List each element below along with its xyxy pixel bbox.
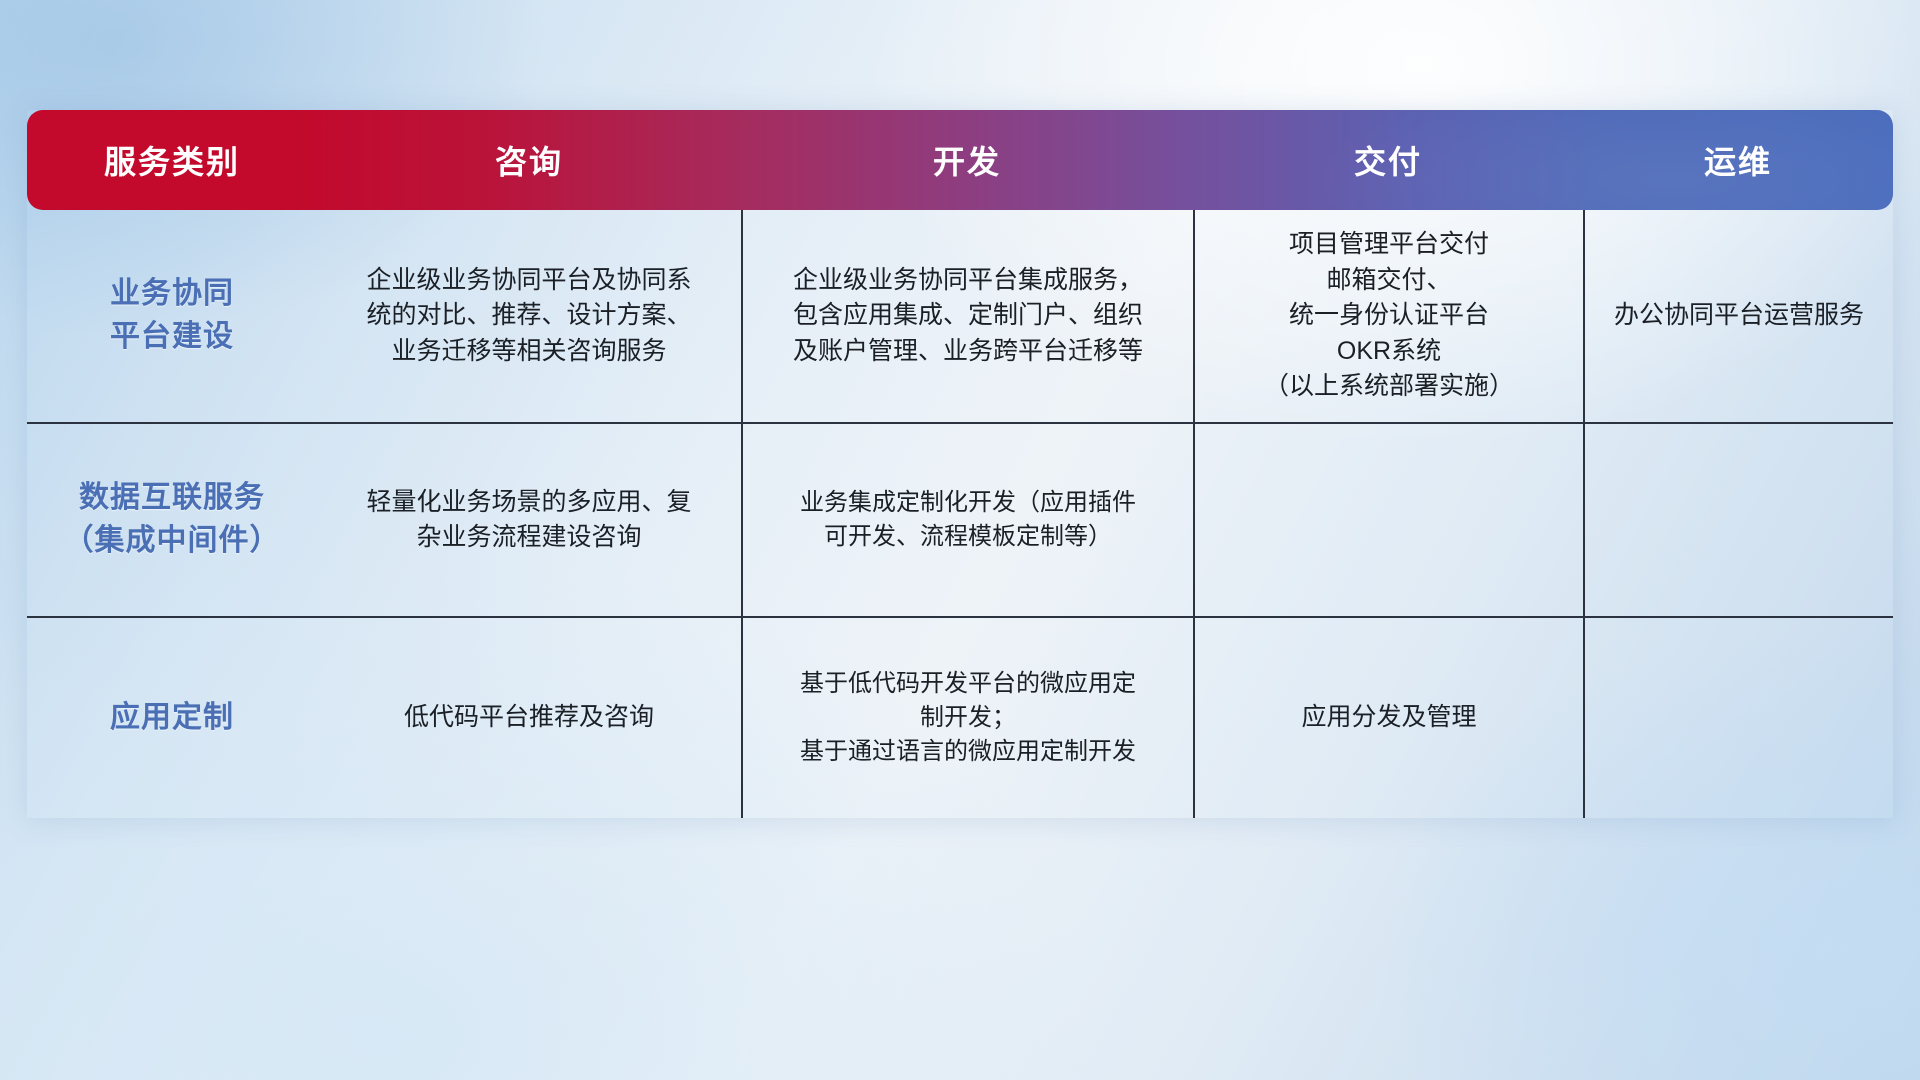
cell-consulting: 低代码平台推荐及咨询 (317, 618, 741, 818)
cell-delivery (1193, 424, 1583, 616)
column-header-delivery: 交付 (1193, 110, 1583, 210)
cell-operations: 办公协同平台运营服务 (1583, 210, 1893, 422)
cell-development: 业务集成定制化开发（应用插件可开发、流程模板定制等） (741, 424, 1193, 616)
row-label-cell: 应用定制 (27, 618, 317, 818)
row-label-cell: 数据互联服务（集成中间件） (27, 424, 317, 616)
cell-consulting: 轻量化业务场景的多应用、复杂业务流程建设咨询 (317, 424, 741, 616)
cell-text: 轻量化业务场景的多应用、复杂业务流程建设咨询 (366, 485, 691, 556)
column-header-consulting: 咨询 (317, 110, 741, 210)
cell-text: 应用分发及管理 (1301, 700, 1476, 736)
cell-text: 办公协同平台运营服务 (1614, 298, 1864, 334)
table-body: 业务协同平台建设 企业级业务协同平台及协同系统的对比、推荐、设计方案、业务迁移等… (27, 210, 1893, 818)
row-label-text: 应用定制 (110, 697, 234, 740)
cell-text: 基于低代码开发平台的微应用定制开发；基于通过语言的微应用定制开发 (800, 667, 1136, 769)
cell-text: 企业级业务协同平台集成服务，包含应用集成、定制门户、组织及账户管理、业务跨平台迁… (793, 263, 1143, 370)
cell-text: 企业级业务协同平台及协同系统的对比、推荐、设计方案、业务迁移等相关咨询服务 (366, 263, 691, 370)
table-row: 应用定制 低代码平台推荐及咨询 基于低代码开发平台的微应用定制开发；基于通过语言… (27, 616, 1893, 818)
table-row: 业务协同平台建设 企业级业务协同平台及协同系统的对比、推荐、设计方案、业务迁移等… (27, 210, 1893, 422)
column-header-category: 服务类别 (27, 110, 317, 210)
row-label-text: 数据互联服务（集成中间件） (64, 477, 281, 562)
cell-development: 基于低代码开发平台的微应用定制开发；基于通过语言的微应用定制开发 (741, 618, 1193, 818)
column-header-development: 开发 (741, 110, 1193, 210)
column-header-operations: 运维 (1583, 110, 1893, 210)
cell-development: 企业级业务协同平台集成服务，包含应用集成、定制门户、组织及账户管理、业务跨平台迁… (741, 210, 1193, 422)
service-matrix-table: 服务类别 咨询 开发 交付 运维 业务协同平台建设 企业级业务协同平台及协同系统… (27, 110, 1893, 818)
cell-text: 低代码平台推荐及咨询 (404, 700, 654, 736)
cell-consulting: 企业级业务协同平台及协同系统的对比、推荐、设计方案、业务迁移等相关咨询服务 (317, 210, 741, 422)
table-header-row: 服务类别 咨询 开发 交付 运维 (27, 110, 1893, 210)
cell-operations (1583, 424, 1893, 616)
cell-delivery: 项目管理平台交付邮箱交付、统一身份认证平台OKR系统（以上系统部署实施） (1193, 210, 1583, 422)
table-row: 数据互联服务（集成中间件） 轻量化业务场景的多应用、复杂业务流程建设咨询 业务集… (27, 422, 1893, 616)
cell-operations (1583, 618, 1893, 818)
cell-text: 业务集成定制化开发（应用插件可开发、流程模板定制等） (800, 486, 1136, 554)
cell-delivery: 应用分发及管理 (1193, 618, 1583, 818)
row-label-text: 业务协同平台建设 (110, 273, 234, 358)
row-label-cell: 业务协同平台建设 (27, 210, 317, 422)
cell-text: 项目管理平台交付邮箱交付、统一身份认证平台OKR系统（以上系统部署实施） (1264, 227, 1514, 405)
